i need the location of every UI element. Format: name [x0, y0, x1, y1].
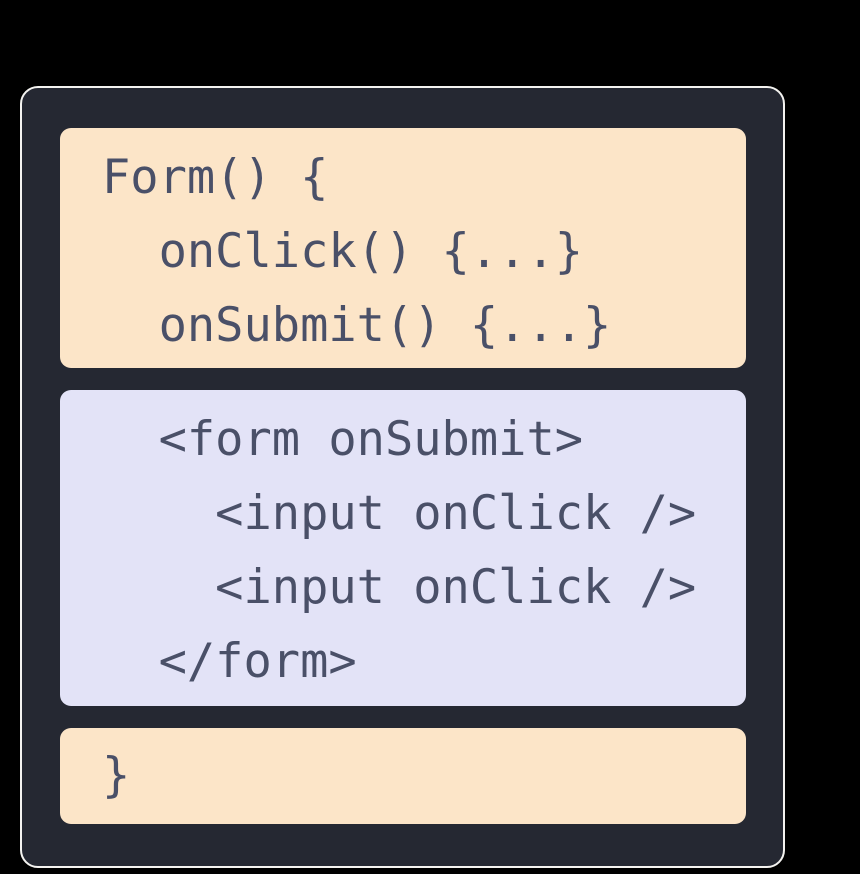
code-line: onSubmit() {...}: [60, 289, 746, 363]
code-line: onClick() {...}: [60, 215, 746, 289]
code-lines-component-bottom: }: [60, 728, 746, 824]
code-line: <input onClick />: [60, 477, 746, 551]
code-lines-markup: <form onSubmit> <input onClick /> <input…: [60, 390, 746, 719]
code-panel: Form() { onClick() {...} onSubmit() {...…: [20, 86, 785, 868]
code-line: <form onSubmit>: [60, 403, 746, 477]
code-card-component-top: Form() { onClick() {...} onSubmit() {...…: [60, 128, 746, 368]
code-line: }: [60, 739, 746, 813]
code-lines-component-top: Form() { onClick() {...} onSubmit() {...…: [60, 128, 746, 381]
diagram-canvas: Form() { onClick() {...} onSubmit() {...…: [0, 0, 860, 874]
code-line: Form() {: [60, 141, 746, 215]
code-card-component-bottom: }: [60, 728, 746, 824]
code-line: </form>: [60, 625, 746, 699]
code-line: <input onClick />: [60, 551, 746, 625]
code-card-markup: <form onSubmit> <input onClick /> <input…: [60, 390, 746, 706]
